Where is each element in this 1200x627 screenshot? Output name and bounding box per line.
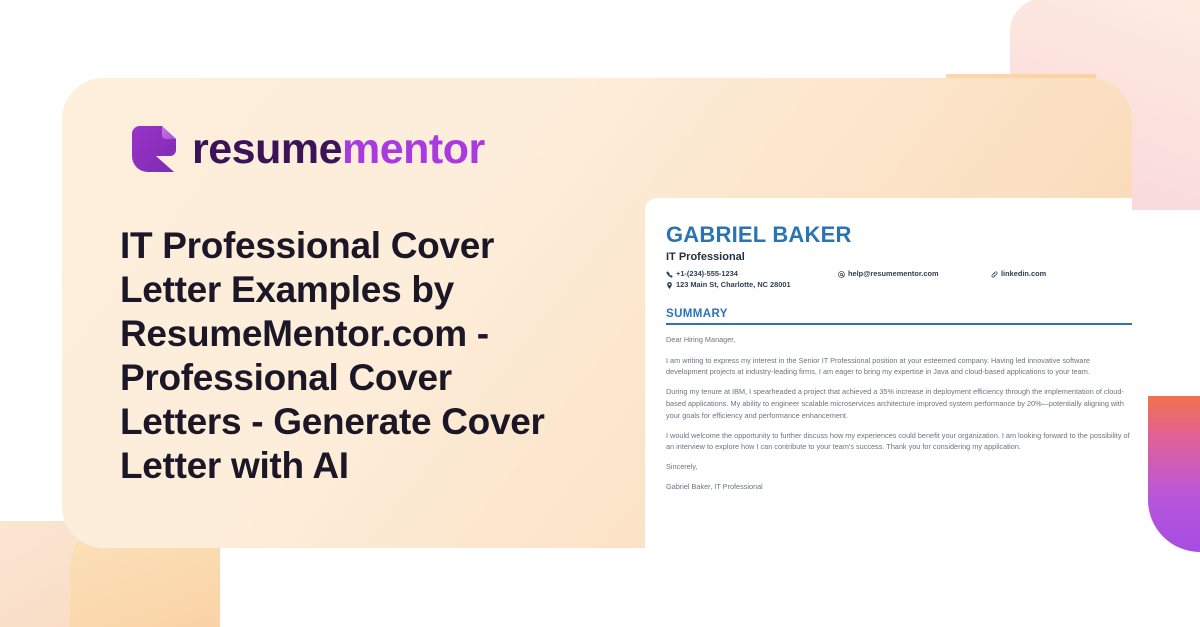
contact-phone: +1-(234)-555-1234 xyxy=(666,269,791,280)
letter-signature: Gabriel Baker, IT Professional xyxy=(666,481,1132,493)
applicant-role: IT Professional xyxy=(666,251,1132,264)
letter-paragraph-2: During my tenure at IBM, I spearheaded a… xyxy=(666,386,1132,421)
hero-card: resumementor IT Professional Cover Lette… xyxy=(62,78,1132,548)
letter-closing: Sincerely, xyxy=(666,461,1132,473)
brand-logo[interactable]: resumementor xyxy=(132,126,485,172)
letter-paragraph-3: I would welcome the opportunity to furth… xyxy=(666,430,1132,454)
applicant-name: GABRIEL BAKER xyxy=(666,223,1132,247)
decor-bar-bottom-right xyxy=(1148,396,1200,552)
contact-linkedin: linkedin.com xyxy=(991,269,1046,280)
contact-details: +1-(234)-555-1234 123 Main St, Charlotte… xyxy=(666,269,1132,295)
brand-wordmark: resumementor xyxy=(192,128,485,171)
section-title-summary: SUMMARY xyxy=(666,308,1132,320)
contact-phone-value: +1-(234)-555-1234 xyxy=(676,269,738,280)
letter-paragraph-1: I am writing to express my interest in t… xyxy=(666,355,1132,379)
email-at-icon xyxy=(838,271,845,279)
cover-letter-content: GABRIEL BAKER IT Professional +1-(234)-5… xyxy=(666,223,1132,493)
contact-email: help@resumementor.com xyxy=(838,269,939,280)
page-title: IT Professional Cover Letter Examples by… xyxy=(120,224,560,488)
contact-linkedin-value: linkedin.com xyxy=(1001,269,1046,280)
contact-email-value: help@resumementor.com xyxy=(848,269,939,280)
contact-address: 123 Main St, Charlotte, NC 28001 xyxy=(666,280,791,291)
cover-letter-body: Dear Hiring Manager, I am writing to exp… xyxy=(666,334,1132,493)
brand-word-mentor: mentor xyxy=(342,125,485,173)
link-icon xyxy=(991,271,998,279)
resumementor-logo-icon xyxy=(132,126,176,172)
letter-greeting: Dear Hiring Manager, xyxy=(666,334,1132,346)
promo-banner: resumementor IT Professional Cover Lette… xyxy=(0,0,1200,627)
location-pin-icon xyxy=(666,281,673,289)
cover-letter-preview[interactable]: GABRIEL BAKER IT Professional +1-(234)-5… xyxy=(645,198,1132,548)
contact-address-value: 123 Main St, Charlotte, NC 28001 xyxy=(676,280,791,291)
section-divider xyxy=(666,323,1132,324)
brand-word-resume: resume xyxy=(192,125,342,173)
phone-icon xyxy=(666,271,673,279)
